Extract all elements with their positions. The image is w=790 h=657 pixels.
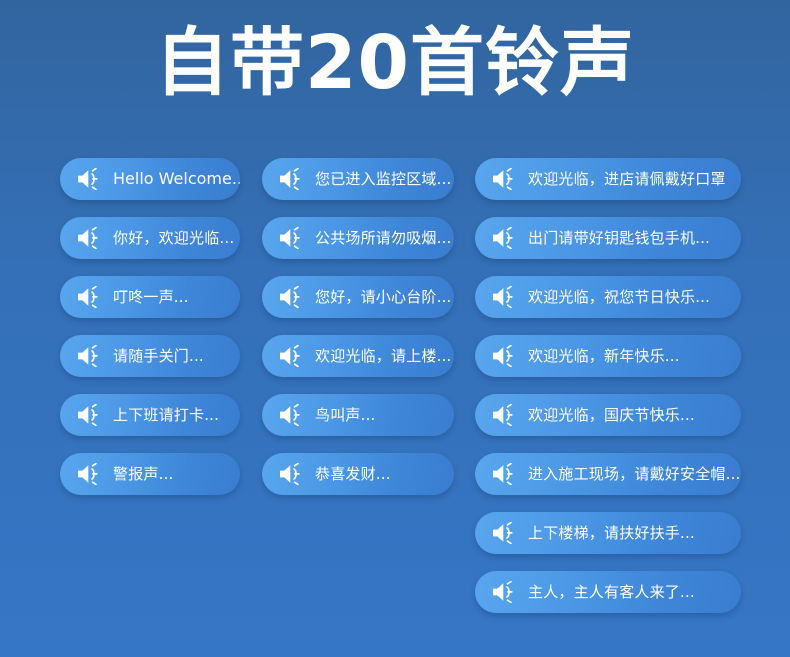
ringtone-button[interactable]: 欢迎光临，请上楼...	[262, 335, 454, 377]
speaker-icon	[279, 286, 305, 308]
ringtone-label: 进入施工现场，请戴好安全帽...	[528, 453, 741, 495]
speaker-icon	[492, 404, 518, 426]
ringtone-column-2: 您已进入监控区域...公共场所请勿吸烟...您好，请小心台阶...欢迎光临，请上…	[262, 158, 454, 512]
speaker-icon	[279, 463, 305, 485]
ringtone-label: 欢迎光临，进店请佩戴好口罩	[528, 158, 726, 200]
ringtone-button[interactable]: 警报声...	[60, 453, 240, 495]
ringtone-label: 鸟叫声...	[315, 394, 376, 436]
ringtone-button[interactable]: 上下班请打卡...	[60, 394, 240, 436]
ringtone-button[interactable]: 请随手关门...	[60, 335, 240, 377]
ringtone-button[interactable]: 进入施工现场，请戴好安全帽...	[475, 453, 741, 495]
speaker-icon	[492, 345, 518, 367]
ringtone-button[interactable]: 欢迎光临，新年快乐...	[475, 335, 741, 377]
speaker-icon	[279, 227, 305, 249]
speaker-icon	[492, 581, 518, 603]
ringtone-label: 上下班请打卡...	[113, 394, 219, 436]
ringtone-button[interactable]: 欢迎光临，祝您节日快乐...	[475, 276, 741, 318]
ringtone-label: 警报声...	[113, 453, 174, 495]
ringtone-button[interactable]: 欢迎光临，进店请佩戴好口罩	[475, 158, 741, 200]
speaker-icon	[77, 463, 103, 485]
ringtone-column-1: Hello Welcome...你好，欢迎光临...叮咚一声...请随手关门..…	[60, 158, 240, 512]
ringtone-label: 出门请带好钥匙钱包手机...	[528, 217, 710, 259]
ringtone-label: 主人，主人有客人来了...	[528, 571, 695, 613]
speaker-icon	[77, 286, 103, 308]
ringtone-label: 上下楼梯，请扶好扶手...	[528, 512, 695, 554]
speaker-icon	[77, 227, 103, 249]
ringtone-label: 欢迎光临，新年快乐...	[528, 335, 680, 377]
ringtone-column-3: 欢迎光临，进店请佩戴好口罩出门请带好钥匙钱包手机...欢迎光临，祝您节日快乐..…	[475, 158, 741, 630]
ringtone-button[interactable]: 上下楼梯，请扶好扶手...	[475, 512, 741, 554]
ringtone-button[interactable]: 公共场所请勿吸烟...	[262, 217, 454, 259]
ringtone-label: 欢迎光临，请上楼...	[315, 335, 452, 377]
ringtone-button[interactable]: 主人，主人有客人来了...	[475, 571, 741, 613]
ringtone-label: 你好，欢迎光临...	[113, 217, 234, 259]
speaker-icon	[492, 168, 518, 190]
ringtone-label: 恭喜发财...	[315, 453, 391, 495]
ringtone-label: Hello Welcome...	[113, 158, 240, 200]
speaker-icon	[77, 345, 103, 367]
title-section: 自带20首铃声	[0, 0, 790, 100]
ringtone-label: 您好，请小心台阶...	[315, 276, 452, 318]
speaker-icon	[492, 286, 518, 308]
ringtone-button[interactable]: 你好，欢迎光临...	[60, 217, 240, 259]
speaker-icon	[492, 227, 518, 249]
ringtone-button[interactable]: 您已进入监控区域...	[262, 158, 454, 200]
speaker-icon	[77, 404, 103, 426]
speaker-icon	[279, 168, 305, 190]
ringtone-button[interactable]: 鸟叫声...	[262, 394, 454, 436]
ringtone-label: 公共场所请勿吸烟...	[315, 217, 452, 259]
speaker-icon	[77, 168, 103, 190]
ringtone-label: 欢迎光临，祝您节日快乐...	[528, 276, 710, 318]
speaker-icon	[492, 522, 518, 544]
page-title: 自带20首铃声	[155, 26, 635, 100]
ringtone-label: 叮咚一声...	[113, 276, 189, 318]
ringtone-label: 请随手关门...	[113, 335, 204, 377]
speaker-icon	[279, 345, 305, 367]
ringtone-button[interactable]: 恭喜发财...	[262, 453, 454, 495]
speaker-icon	[279, 404, 305, 426]
ringtone-button[interactable]: 叮咚一声...	[60, 276, 240, 318]
speaker-icon	[492, 463, 518, 485]
ringtone-button[interactable]: 您好，请小心台阶...	[262, 276, 454, 318]
ringtone-label: 您已进入监控区域...	[315, 158, 452, 200]
ringtone-button[interactable]: Hello Welcome...	[60, 158, 240, 200]
ringtone-button[interactable]: 出门请带好钥匙钱包手机...	[475, 217, 741, 259]
ringtone-label: 欢迎光临，国庆节快乐...	[528, 394, 695, 436]
ringtone-grid: Hello Welcome...你好，欢迎光临...叮咚一声...请随手关门..…	[0, 158, 790, 630]
ringtone-button[interactable]: 欢迎光临，国庆节快乐...	[475, 394, 741, 436]
